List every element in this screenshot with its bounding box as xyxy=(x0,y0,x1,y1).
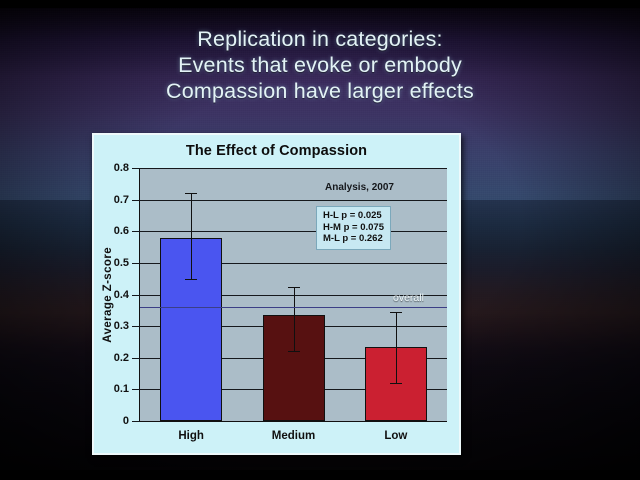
overall-reference-label: overall xyxy=(393,292,424,304)
x-axis-label-low: Low xyxy=(384,430,407,442)
chart-card: The Effect of Compassion Average Z-score… xyxy=(92,133,461,455)
stats-box: H-L p = 0.025H-M p = 0.075M-L p = 0.262 xyxy=(316,206,391,250)
stats-box-line-2: H-M p = 0.075 xyxy=(323,222,384,234)
error-bar-cap-bottom-low xyxy=(390,383,402,384)
y-axis-tick-label: 0.8 xyxy=(114,162,129,174)
error-bar-cap-top-medium xyxy=(288,287,300,288)
y-axis-tick-label: 0 xyxy=(123,415,129,427)
error-bar-cap-bottom-medium xyxy=(288,351,300,352)
y-axis-tick xyxy=(132,168,140,169)
y-axis-tick-label: 0.7 xyxy=(114,194,129,206)
y-axis-tick xyxy=(132,200,140,201)
error-bar-cap-bottom-high xyxy=(185,279,197,280)
slide-photo: Replication in categories: Events that e… xyxy=(0,0,640,480)
gridline xyxy=(140,168,447,169)
y-axis-tick xyxy=(132,231,140,232)
error-bar-high xyxy=(191,193,192,278)
error-bar-cap-top-low xyxy=(390,312,402,313)
chart-area: The Effect of Compassion Average Z-score… xyxy=(94,135,459,453)
y-axis-tick xyxy=(132,263,140,264)
stats-box-line-1: H-L p = 0.025 xyxy=(323,210,384,222)
x-axis-label-medium: Medium xyxy=(272,430,315,442)
y-axis-tick-label: 0.4 xyxy=(114,289,129,301)
heading-line-1: Replication in categories: xyxy=(0,26,640,52)
error-bar-cap-top-high xyxy=(185,193,197,194)
chart-title: The Effect of Compassion xyxy=(94,143,459,159)
stats-box-line-3: M-L p = 0.262 xyxy=(323,233,384,245)
y-axis-tick-label: 0.3 xyxy=(114,320,129,332)
y-axis-tick xyxy=(132,421,140,422)
y-axis-tick-label: 0.6 xyxy=(114,225,129,237)
heading-line-3: Compassion have larger effects xyxy=(0,78,640,104)
error-bar-medium xyxy=(294,287,295,352)
x-axis-label-high: High xyxy=(178,430,204,442)
error-bar-low xyxy=(396,312,397,383)
y-axis-tick xyxy=(132,358,140,359)
slide-heading: Replication in categories: Events that e… xyxy=(0,26,640,104)
y-axis-tick-label: 0.1 xyxy=(114,383,129,395)
y-axis-title-label: Average Z-score xyxy=(102,247,114,343)
chart-annotation: Analysis, 2007 xyxy=(325,182,394,193)
y-axis-tick xyxy=(132,295,140,296)
overall-reference-line xyxy=(140,307,447,308)
y-axis-tick-label: 0.2 xyxy=(114,352,129,364)
y-axis-tick-label: 0.5 xyxy=(114,257,129,269)
plot-area: 0.80.70.60.50.40.30.20.10HighMediumLowov… xyxy=(139,168,447,422)
y-axis-tick xyxy=(132,326,140,327)
heading-line-2: Events that evoke or embody xyxy=(0,52,640,78)
gridline xyxy=(140,200,447,201)
gridline xyxy=(140,231,447,232)
y-axis-tick xyxy=(132,389,140,390)
